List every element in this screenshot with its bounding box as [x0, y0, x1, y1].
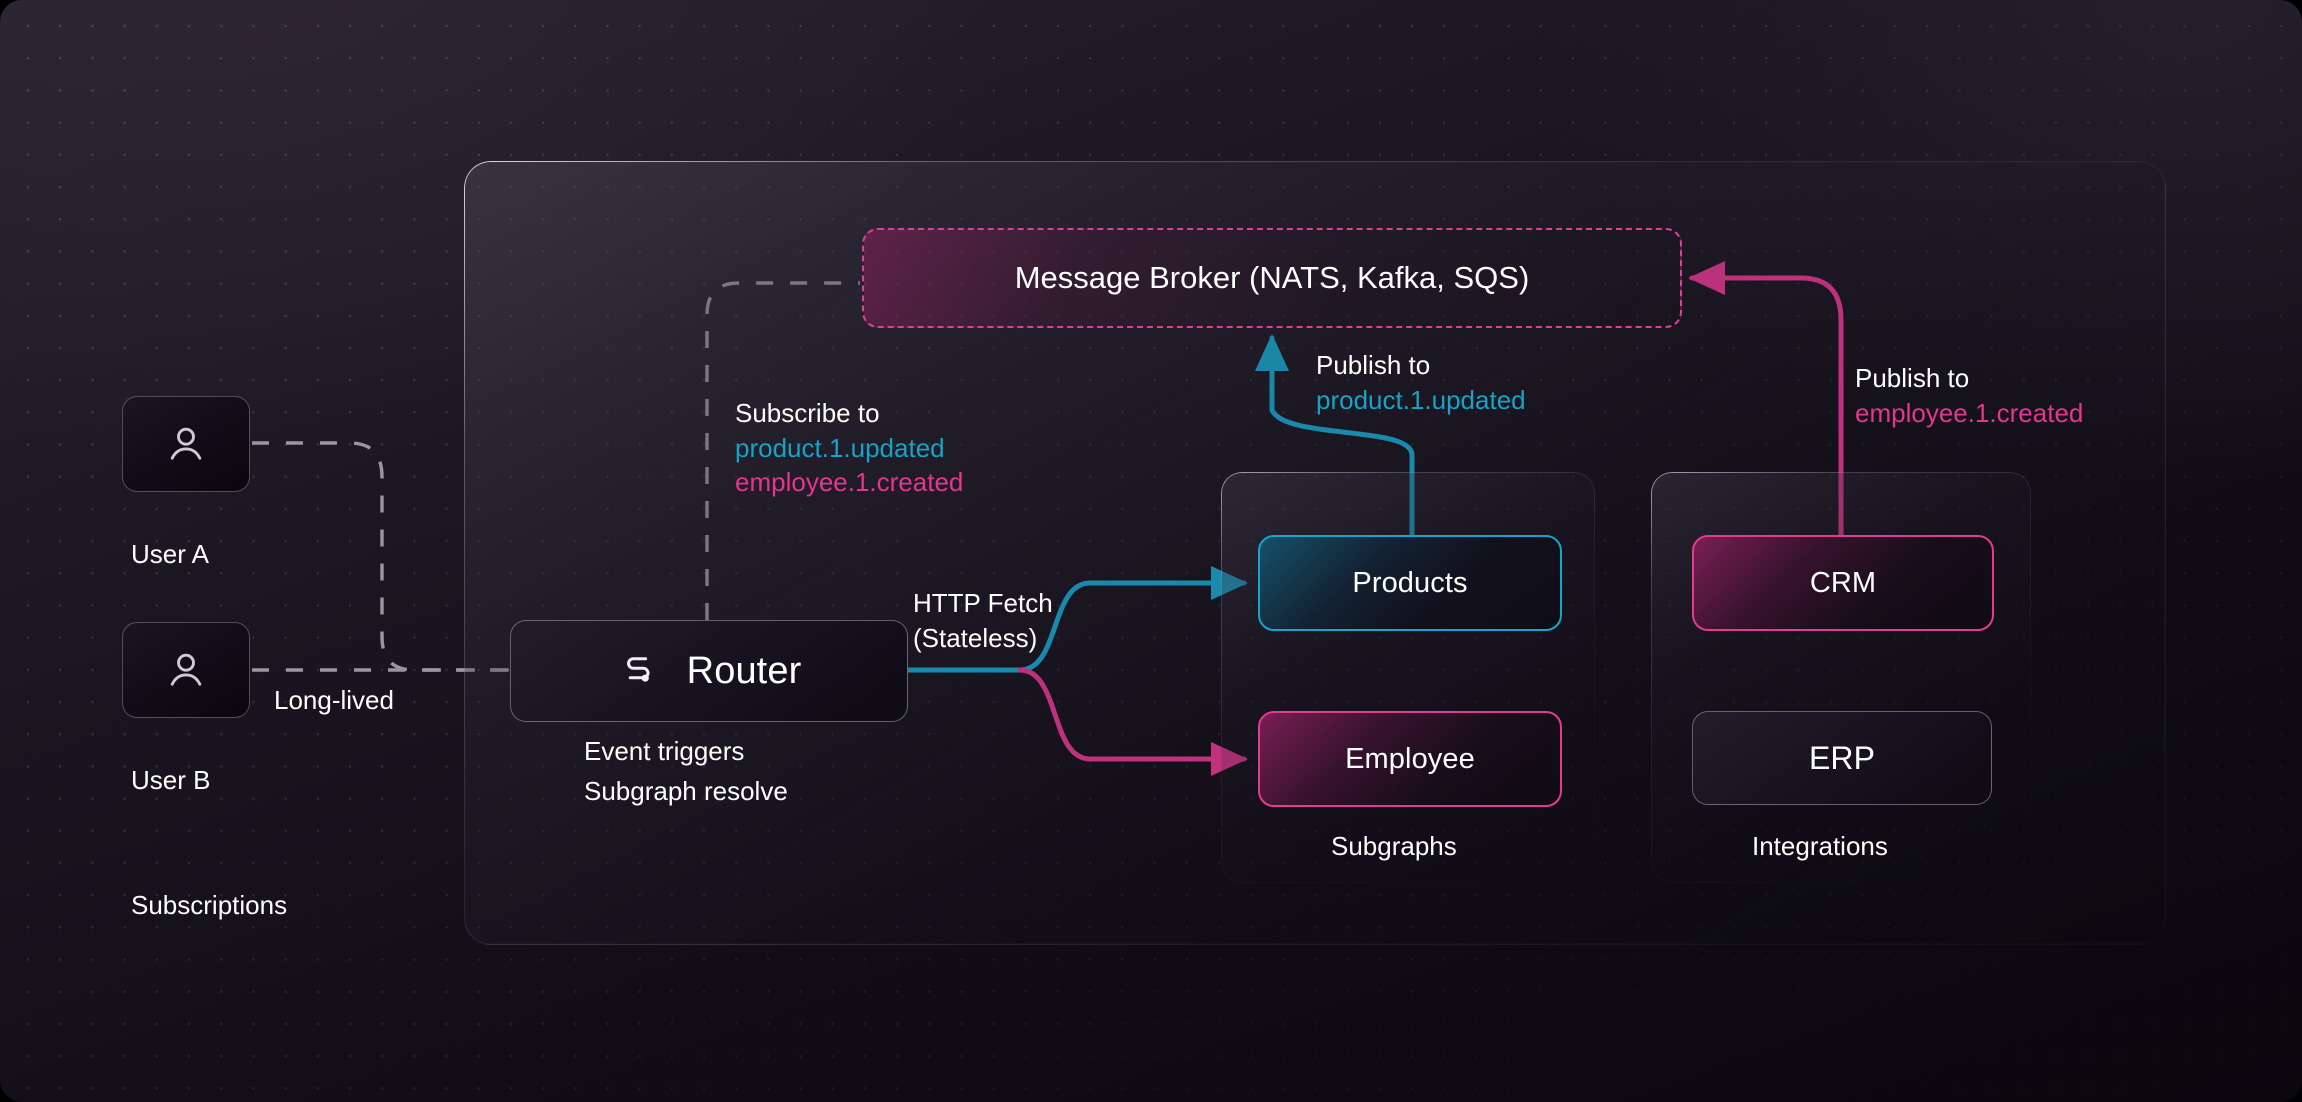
message-broker-node[interactable]: Message Broker (NATS, Kafka, SQS): [862, 228, 1682, 328]
router-caption-line-2: Subgraph resolve: [584, 776, 788, 807]
publish-products-title: Publish to: [1316, 348, 1526, 383]
user-icon: [163, 421, 209, 467]
user-b-label: User B: [131, 765, 210, 796]
user-a-tile[interactable]: [122, 396, 250, 492]
long-lived-label: Long-lived: [274, 685, 394, 716]
integrations-panel-label: Integrations: [1752, 831, 1888, 862]
employee-label: Employee: [1345, 743, 1475, 776]
crm-integration-node[interactable]: CRM: [1692, 535, 1994, 631]
products-subgraph-node[interactable]: Products: [1258, 535, 1562, 631]
user-b-tile[interactable]: [122, 622, 250, 718]
user-a-label: User A: [131, 539, 209, 570]
publish-crm-title: Publish to: [1855, 361, 2083, 396]
erp-integration-node[interactable]: ERP: [1692, 711, 1992, 805]
publish-products-topic: product.1.updated: [1316, 383, 1526, 418]
subscribe-edge-label: Subscribe to product.1.updated employee.…: [735, 396, 963, 500]
router-path-icon: [617, 649, 661, 693]
router-node[interactable]: Router: [510, 620, 908, 722]
router-label: Router: [687, 650, 802, 693]
message-broker-label: Message Broker (NATS, Kafka, SQS): [1015, 260, 1530, 296]
publish-products-edge-label: Publish to product.1.updated: [1316, 348, 1526, 417]
crm-label: CRM: [1810, 567, 1876, 600]
subgraphs-panel-label: Subgraphs: [1331, 831, 1457, 862]
subscribe-title: Subscribe to: [735, 396, 963, 431]
user-icon: [163, 647, 209, 693]
http-fetch-edge-label: HTTP Fetch (Stateless): [913, 586, 1053, 655]
publish-crm-edge-label: Publish to employee.1.created: [1855, 361, 2083, 430]
diagram-canvas: User A User B Long-lived Subscriptions M…: [0, 0, 2302, 1102]
subscriptions-section-label: Subscriptions: [131, 890, 287, 921]
subscribe-topic-employee: employee.1.created: [735, 465, 963, 500]
products-label: Products: [1352, 567, 1467, 600]
http-fetch-line-2: (Stateless): [913, 621, 1053, 656]
subscribe-topic-product: product.1.updated: [735, 431, 963, 466]
http-fetch-line-1: HTTP Fetch: [913, 586, 1053, 621]
router-caption-line-1: Event triggers: [584, 736, 744, 767]
erp-label: ERP: [1809, 740, 1875, 777]
employee-subgraph-node[interactable]: Employee: [1258, 711, 1562, 807]
publish-crm-topic: employee.1.created: [1855, 396, 2083, 431]
